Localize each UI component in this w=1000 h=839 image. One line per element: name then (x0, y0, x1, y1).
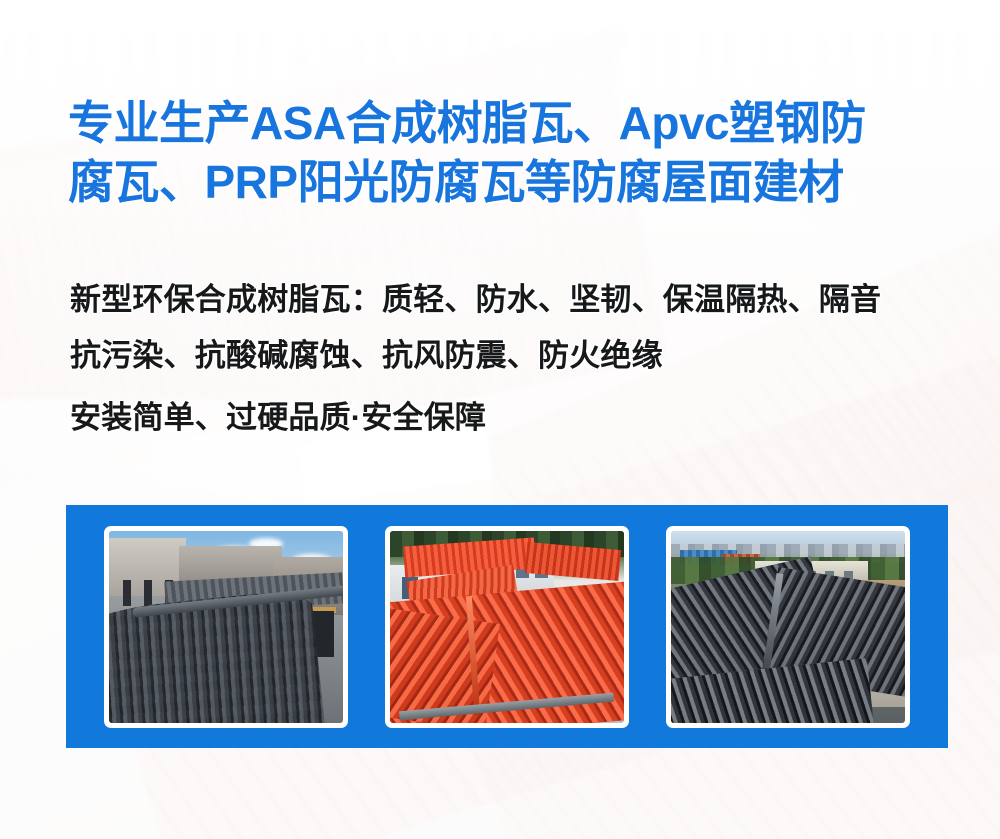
photo-frame-1[interactable] (104, 526, 348, 728)
feature-copy: 新型环保合成树脂瓦：质轻、防水、坚韧、保温隔热、隔音 抗污染、抗酸碱腐蚀、抗风防… (70, 272, 960, 446)
feature-copy-line-1: 新型环保合成树脂瓦：质轻、防水、坚韧、保温隔热、隔音 (70, 272, 960, 328)
photo1-window (123, 580, 131, 606)
photo-frame-3[interactable] (666, 526, 910, 728)
photo-gallery-panel (66, 505, 948, 748)
headline-line-1: 专业生产ASA合成树脂瓦、Apvc塑钢防 (68, 94, 948, 153)
grey-resin-tile-roof-photo (109, 531, 343, 723)
photo1-window (144, 580, 152, 606)
feature-copy-line-2: 抗污染、抗酸碱腐蚀、抗风防震、防火绝缘 (70, 328, 960, 384)
black-resin-tile-roof-photo (671, 531, 905, 723)
red-resin-tile-roof-photo (390, 531, 624, 723)
product-banner: 专业生产ASA合成树脂瓦、Apvc塑钢防 腐瓦、PRP阳光防腐瓦等防腐屋面建材 … (0, 0, 1000, 839)
banner-content: 专业生产ASA合成树脂瓦、Apvc塑钢防 腐瓦、PRP阳光防腐瓦等防腐屋面建材 … (0, 0, 1000, 839)
headline: 专业生产ASA合成树脂瓦、Apvc塑钢防 腐瓦、PRP阳光防腐瓦等防腐屋面建材 (68, 94, 948, 212)
photo-frame-2[interactable] (385, 526, 629, 728)
headline-line-2: 腐瓦、PRP阳光防腐瓦等防腐屋面建材 (68, 153, 948, 212)
feature-copy-line-3: 安装简单、过硬品质·安全保障 (70, 390, 960, 446)
